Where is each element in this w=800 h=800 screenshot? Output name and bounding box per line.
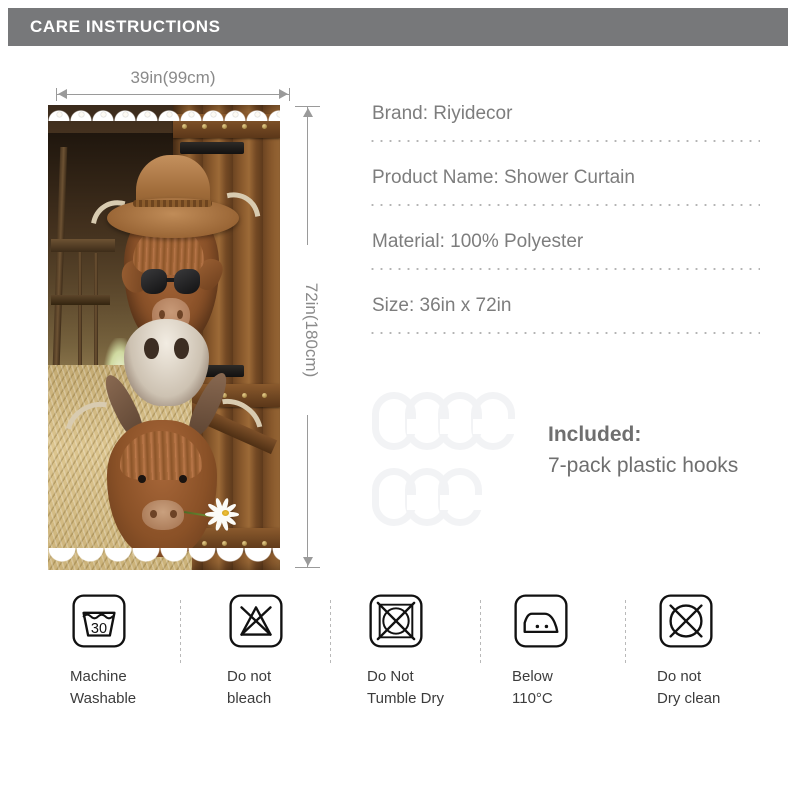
care-divider (330, 600, 331, 666)
plastic-hooks-illustration (370, 392, 550, 530)
hook-opening (407, 419, 417, 434)
spec-divider (368, 332, 760, 334)
spec-product-name: Product Name: Shower Curtain (368, 164, 762, 192)
spec-row-size: Size: 36in x 72in (368, 292, 762, 356)
care-divider (480, 600, 481, 666)
care-label: Do notbleach (227, 666, 355, 710)
cow-nostril (170, 510, 177, 518)
care-label: Do NotTumble Dry (367, 666, 495, 710)
iron-low-heat-icon (512, 592, 570, 650)
barn-beam (52, 147, 67, 394)
care-symbols-row: 30MachineWashableDo notbleachDo NotTumbl… (0, 592, 800, 742)
care-label-line1: Do Not (367, 666, 495, 688)
care-divider (625, 600, 626, 666)
cow-eye (179, 475, 187, 483)
hook-opening (473, 495, 483, 510)
hook-opening (440, 495, 450, 510)
height-dimension-cap-top (295, 106, 320, 107)
included-block: Included: 7-pack plastic hooks (548, 420, 788, 482)
cow-nostril (159, 310, 165, 319)
care-item-iron-low-heat: Below110°C (500, 592, 640, 710)
hook-row (372, 468, 483, 526)
care-label-line1: Do not (657, 666, 785, 688)
wash-tub-30-icon: 30 (70, 592, 128, 650)
care-instructions-infographic: CARE INSTRUCTIONS 39in(99cm) 72in(180cm) (0, 0, 800, 800)
curtain-wavy-bottom (48, 548, 280, 570)
care-label-line2: 110°C (512, 688, 640, 710)
care-label: MachineWashable (70, 666, 198, 710)
width-dimension: 39in(99cm) (56, 68, 290, 102)
page-title: CARE INSTRUCTIONS (8, 17, 221, 37)
care-divider (180, 600, 181, 666)
spec-row-product-name: Product Name: Shower Curtain (368, 164, 762, 228)
care-label-line1: Do not (227, 666, 355, 688)
daisy-flower-icon (204, 497, 241, 527)
cow-muzzle (142, 500, 184, 530)
curtain-grommets (48, 112, 280, 120)
arrow-up-icon (303, 108, 313, 117)
care-item-do-not-bleach: Do notbleach (215, 592, 355, 710)
do-not-bleach-icon (227, 592, 285, 650)
cow-nostril (177, 310, 183, 319)
do-not-dry-clean-icon (657, 592, 715, 650)
hook-opening (407, 495, 417, 510)
spec-divider (368, 204, 760, 206)
spec-brand: Brand: Riyidecor (368, 100, 762, 128)
spec-material: Material: 100% Polyester (368, 228, 762, 256)
care-label-line2: bleach (227, 688, 355, 710)
cowboy-hat-icon (107, 160, 239, 238)
sunglasses-icon (141, 269, 200, 294)
care-label-line2: Tumble Dry (367, 688, 495, 710)
cow-fringe (120, 431, 202, 480)
barn-beam (51, 295, 110, 304)
width-dimension-line (56, 94, 290, 95)
hook-opening (506, 419, 516, 434)
product-image-scene (48, 105, 280, 570)
care-item-do-not-dry-clean: Do notDry clean (645, 592, 785, 710)
hook-opening (440, 419, 450, 434)
cow-head (107, 420, 217, 557)
svg-text:30: 30 (91, 621, 107, 637)
arrow-down-icon (303, 557, 313, 566)
spec-row-brand: Brand: Riyidecor (368, 100, 762, 164)
arrow-right-icon (279, 89, 288, 99)
spec-divider (368, 140, 760, 142)
width-dimension-cap-right (289, 88, 290, 101)
included-title: Included: (548, 420, 788, 450)
sunglasses-lens (174, 269, 200, 294)
door-hinge (180, 142, 244, 154)
care-label-line2: Dry clean (657, 688, 785, 710)
hat-band (133, 200, 212, 207)
cow-eye (138, 475, 146, 483)
header-bar: CARE INSTRUCTIONS (8, 8, 788, 46)
care-label-line1: Machine (70, 666, 198, 688)
daisy-center (222, 510, 229, 516)
care-label-line1: Below (512, 666, 640, 688)
spec-size: Size: 36in x 72in (368, 292, 762, 320)
care-label: Below110°C (512, 666, 640, 710)
included-subtitle: 7-pack plastic hooks (548, 450, 788, 482)
specifications-list: Brand: Riyidecor Product Name: Shower Cu… (368, 100, 762, 356)
donkey-nostril (144, 338, 159, 359)
cow-nostril (150, 510, 157, 518)
hook-row (372, 392, 516, 450)
care-label: Do notDry clean (657, 666, 785, 710)
care-item-wash-tub-30: 30MachineWashable (58, 592, 198, 710)
width-dimension-cap-left (56, 88, 57, 101)
height-dimension: 72in(180cm) (288, 106, 328, 568)
width-dimension-label: 39in(99cm) (56, 68, 290, 88)
donkey-nostril (174, 338, 189, 359)
care-item-do-not-tumble-dry: Do NotTumble Dry (355, 592, 495, 710)
do-not-tumble-dry-icon (367, 592, 425, 650)
plastic-hook (372, 468, 416, 526)
sunglasses-lens (141, 269, 167, 294)
product-image (48, 105, 280, 570)
cow-with-daisy (80, 393, 247, 560)
height-dimension-cap-bottom (295, 567, 320, 568)
care-label-line2: Washable (70, 688, 198, 710)
arrow-left-icon (58, 89, 67, 99)
spec-row-material: Material: 100% Polyester (368, 228, 762, 292)
hook-opening (473, 419, 483, 434)
spec-divider (368, 268, 760, 270)
height-dimension-label: 72in(180cm) (299, 245, 323, 415)
door-studs (173, 124, 280, 130)
plastic-hook (372, 392, 416, 450)
